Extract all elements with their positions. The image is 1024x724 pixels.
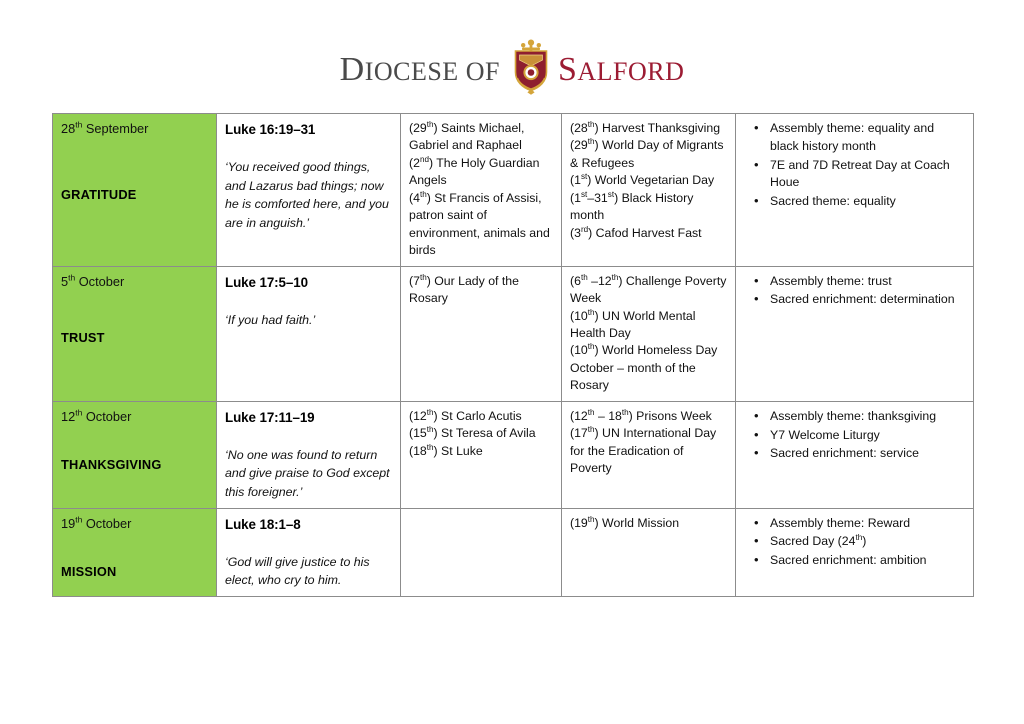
list-item: (10th) UN World Mental Health Day xyxy=(570,308,727,343)
list-item: Y7 Welcome Liturgy xyxy=(770,427,965,445)
table-row: 12th October THANKSGIVING Luke 17:11–19 … xyxy=(53,401,974,508)
events-list: (28th) Harvest Thanksgiving (29th) World… xyxy=(570,120,727,242)
date-month: September xyxy=(82,121,148,136)
list-item: Sacred enrichment: determination xyxy=(770,291,965,309)
list-item: Sacred Day (24th) xyxy=(770,533,965,551)
list-item: Assembly theme: equality and black histo… xyxy=(770,120,965,156)
list-item: (4th) St Francis of Assisi, patron saint… xyxy=(409,190,553,260)
diocese-logo: DIOCESE OF xyxy=(0,42,1024,98)
row-theme-name: TRUST xyxy=(61,329,208,347)
list-item: (18th) St Luke xyxy=(409,443,553,460)
scripture-quote: ‘If you had faith.’ xyxy=(225,311,392,330)
list-item: (29th) Saints Michael, Gabriel and Rapha… xyxy=(409,120,553,155)
cell-events: (12th – 18th) Prisons Week (17th) UN Int… xyxy=(562,401,736,508)
table-row: 28th September GRATITUDE Luke 16:19–31 ‘… xyxy=(53,114,974,267)
school-activities-list: Assembly theme: Reward Sacred Day (24th)… xyxy=(744,515,965,570)
date-month: October xyxy=(82,516,131,531)
list-item: (12th) St Carlo Acutis xyxy=(409,408,553,425)
list-item: Assembly theme: Reward xyxy=(770,515,965,533)
row-theme-name: THANKSGIVING xyxy=(61,456,208,474)
list-item: (1st–31st) Black History month xyxy=(570,190,727,225)
cell-saints xyxy=(401,508,562,596)
scripture-quote: ‘God will give justice to his elect, who… xyxy=(225,553,392,590)
list-item: October – month of the Rosary xyxy=(570,360,727,395)
list-item: Assembly theme: trust xyxy=(770,273,965,291)
cell-events: (28th) Harvest Thanksgiving (29th) World… xyxy=(562,114,736,267)
table-row: 19th October MISSION Luke 18:1–8 ‘God wi… xyxy=(53,508,974,596)
list-item: Sacred enrichment: service xyxy=(770,445,965,463)
saints-list: (29th) Saints Michael, Gabriel and Rapha… xyxy=(409,120,553,260)
cell-saints: (7th) Our Lady of the Rosary xyxy=(401,266,562,401)
date-month: October xyxy=(75,274,124,289)
cell-events: (6th –12th) Challenge Poverty Week (10th… xyxy=(562,266,736,401)
row-theme-name: GRATITUDE xyxy=(61,186,208,204)
saints-list: (7th) Our Lady of the Rosary xyxy=(409,273,553,308)
cell-saints: (12th) St Carlo Acutis (15th) St Teresa … xyxy=(401,401,562,508)
school-activities-list: Assembly theme: trust Sacred enrichment:… xyxy=(744,273,965,310)
cell-theme: 5th October TRUST xyxy=(53,266,217,401)
cell-scripture: Luke 18:1–8 ‘God will give justice to hi… xyxy=(217,508,401,596)
row-theme-name: MISSION xyxy=(61,563,208,581)
date-number: 12 xyxy=(61,409,75,424)
cell-scripture: Luke 17:11–19 ‘No one was found to retur… xyxy=(217,401,401,508)
row-date: 5th October xyxy=(61,273,208,291)
date-month: October xyxy=(82,409,131,424)
list-item: (2nd) The Holy Guardian Angels xyxy=(409,155,553,190)
list-item: Assembly theme: thanksgiving xyxy=(770,408,965,426)
liturgical-schedule-table-wrapper: 28th September GRATITUDE Luke 16:19–31 ‘… xyxy=(52,113,973,597)
scripture-reference: Luke 18:1–8 xyxy=(225,515,392,534)
row-date: 28th September xyxy=(61,120,208,138)
list-item: (19th) World Mission xyxy=(570,515,727,532)
cell-school: Assembly theme: Reward Sacred Day (24th)… xyxy=(736,508,974,596)
logo-text-salford: SALFORD xyxy=(558,53,684,87)
row-date: 12th October xyxy=(61,408,208,426)
cell-school: Assembly theme: equality and black histo… xyxy=(736,114,974,267)
list-item: (29th) World Day of Migrants & Refugees xyxy=(570,137,727,172)
logo-text-diocese-of: DIOCESE OF xyxy=(340,53,500,87)
date-number: 19 xyxy=(61,516,75,531)
cell-scripture: Luke 16:19–31 ‘You received good things,… xyxy=(217,114,401,267)
page-header: DIOCESE OF xyxy=(0,0,1024,110)
list-item: (28th) Harvest Thanksgiving xyxy=(570,120,727,137)
events-list: (19th) World Mission xyxy=(570,515,727,532)
list-item: (7th) Our Lady of the Rosary xyxy=(409,273,553,308)
scripture-reference: Luke 17:11–19 xyxy=(225,408,392,427)
liturgical-schedule-table: 28th September GRATITUDE Luke 16:19–31 ‘… xyxy=(52,113,974,597)
scripture-quote: ‘No one was found to return and give pra… xyxy=(225,446,392,502)
date-number: 28 xyxy=(61,121,75,136)
list-item: Sacred theme: equality xyxy=(770,193,965,211)
events-list: (6th –12th) Challenge Poverty Week (10th… xyxy=(570,273,727,395)
cell-school: Assembly theme: thanksgiving Y7 Welcome … xyxy=(736,401,974,508)
events-list: (12th – 18th) Prisons Week (17th) UN Int… xyxy=(570,408,727,478)
list-item: (6th –12th) Challenge Poverty Week xyxy=(570,273,727,308)
list-item: (3rd) Cafod Harvest Fast xyxy=(570,225,727,242)
row-date: 19th October xyxy=(61,515,208,533)
cell-saints: (29th) Saints Michael, Gabriel and Rapha… xyxy=(401,114,562,267)
diocese-crest-shield-icon xyxy=(510,39,552,95)
list-item: 7E and 7D Retreat Day at Coach Houe xyxy=(770,157,965,193)
list-item: (15th) St Teresa of Avila xyxy=(409,425,553,442)
cell-theme: 28th September GRATITUDE xyxy=(53,114,217,267)
list-item: (10th) World Homeless Day xyxy=(570,342,727,359)
saints-list: (12th) St Carlo Acutis (15th) St Teresa … xyxy=(409,408,553,460)
list-item: (17th) UN International Day for the Erad… xyxy=(570,425,727,477)
cell-theme: 12th October THANKSGIVING xyxy=(53,401,217,508)
list-item: Sacred enrichment: ambition xyxy=(770,552,965,570)
cell-scripture: Luke 17:5–10 ‘If you had faith.’ xyxy=(217,266,401,401)
table-row: 5th October TRUST Luke 17:5–10 ‘If you h… xyxy=(53,266,974,401)
scripture-reference: Luke 16:19–31 xyxy=(225,120,392,139)
cell-events: (19th) World Mission xyxy=(562,508,736,596)
list-item: (12th – 18th) Prisons Week xyxy=(570,408,727,425)
scripture-quote: ‘You received good things, and Lazarus b… xyxy=(225,158,392,232)
cell-theme: 19th October MISSION xyxy=(53,508,217,596)
school-activities-list: Assembly theme: thanksgiving Y7 Welcome … xyxy=(744,408,965,463)
school-activities-list: Assembly theme: equality and black histo… xyxy=(744,120,965,211)
list-item: (1st) World Vegetarian Day xyxy=(570,172,727,189)
cell-school: Assembly theme: trust Sacred enrichment:… xyxy=(736,266,974,401)
scripture-reference: Luke 17:5–10 xyxy=(225,273,392,292)
